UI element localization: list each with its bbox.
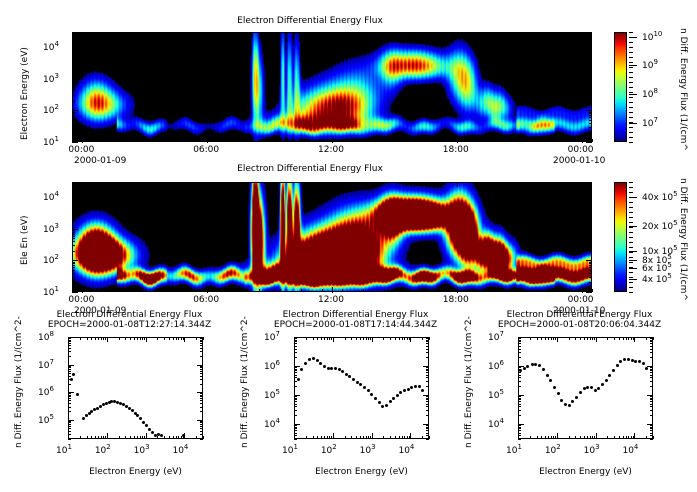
spectrum-y-minor-tick [294,367,297,368]
y-major-tick [72,47,78,48]
x-minor-tick [93,139,94,142]
spectrum-y-minor-tick [650,381,653,382]
y-minor-tick [589,80,592,81]
spectrum-x-minor-tick [366,337,367,340]
spectrum-y-minor-tick [68,411,71,412]
x-minor-tick [363,139,364,142]
spectrum-x-minor-tick [345,436,346,439]
x-minor-tick [93,289,94,292]
spectrum-y-minor-tick [518,352,521,353]
spectrum-y-minor-tick [294,369,297,370]
spectrum-y-tick-label: 107 [488,330,504,343]
spectrum-x-minor-tick [634,337,635,340]
colorbar-minor-tick [629,37,633,38]
y-minor-tick [72,207,75,208]
spectrum-y-minor-tick [426,430,429,431]
spectrum-y-minor-tick [200,395,203,396]
y-minor-tick [72,101,75,102]
spectrum-x-minor-tick [518,337,519,340]
y-minor-tick [72,86,75,87]
spectrum-y-minor-tick [650,430,653,431]
y-minor-tick [589,251,592,252]
spectrum-x-minor-tick [164,337,165,340]
y-minor-tick [72,52,75,53]
spectrum-y-minor-tick [294,372,297,373]
colorbar-tick-label: 20x 105 [642,219,678,232]
data-point [341,370,344,373]
spectrum-x-minor-tick [294,337,295,340]
colorbar-tick-label: 108 [642,87,658,100]
spectrum-x-minor-tick [628,436,629,439]
y-major-tick [586,110,592,111]
spectrum-x-minor-tick [407,436,408,439]
spectrum-x-minor-tick [329,337,330,340]
spectrum-y-minor-tick [200,365,203,366]
spectrum-y-minor-tick [294,357,297,358]
x-minor-tick [238,139,239,142]
y-minor-tick [72,88,75,89]
colorbar-minor-tick [629,247,633,248]
y-minor-tick [72,236,75,237]
y-minor-tick [589,52,592,53]
spectrum-x-minor-tick [646,436,647,439]
y-tick-label: 101 [43,135,59,148]
data-point [583,387,586,390]
spectrum-y-minor-tick [200,366,203,367]
spectrum-y-minor-tick [294,377,297,378]
data-point [597,387,600,390]
y-major-tick [586,260,592,261]
spectrum-x-minor-tick [653,337,654,340]
spectrum-y-minor-tick [518,404,521,405]
spectrum-y-minor-tick [518,430,521,431]
spectrum-y-minor-tick [518,399,521,400]
x-minor-tick [571,289,572,292]
spectrum-y-minor-tick [68,420,71,421]
spectrum-y-minor-tick [426,375,429,376]
x-minor-tick [488,139,489,142]
y-minor-tick [72,202,75,203]
y-minor-tick [589,214,592,215]
spectrum-y-minor-tick [200,407,203,408]
spectrum-y-minor-tick [426,439,429,440]
y-minor-tick [72,117,75,118]
spectrum-y-minor-tick [518,357,521,358]
y-minor-tick [72,199,75,200]
spectrum-x-tick-label: 104 [172,443,188,456]
spectrum-x-minor-tick [345,337,346,340]
y-minor-tick [589,210,592,211]
y-minor-tick [72,49,75,50]
spectrum-y-minor-tick [650,352,653,353]
y-minor-tick [589,132,592,133]
y-minor-tick [589,112,592,113]
data-point [308,358,311,361]
y-minor-tick [589,241,592,242]
y-minor-tick [589,202,592,203]
x-major-tick [207,287,208,293]
spectrum-y-minor-tick [68,400,71,401]
x-minor-tick [176,289,177,292]
spectrum-x-minor-tick [333,337,334,340]
spectrum-x-minor-tick [530,436,531,439]
colorbar-minor-tick [629,222,633,223]
spectrum-y-minor-tick [68,407,71,408]
spectrum-subtitle-3: EPOCH=2000-01-08T20:06:04.344Z [472,320,687,331]
spectrum-y-minor-tick [426,404,429,405]
y-major-tick [586,142,592,143]
colorbar-minor-tick [629,67,633,68]
spectrum-x-minor-tick [137,337,138,340]
spectrum-x-tick-label: 103 [360,443,376,456]
spectrum-x-minor-tick [203,436,204,439]
spectrum-y-minor-tick [200,345,203,346]
x-minor-tick [342,289,343,292]
spectrum-y-minor-tick [650,424,653,425]
spectrum-x-minor-tick [80,337,81,340]
spectrum-y-minor-tick [200,373,203,374]
spectrum-y-tick-label: 104 [488,417,504,430]
y-minor-tick [72,263,75,264]
spectrum-x-minor-tick [333,436,334,439]
spectrum-x-minor-tick [327,337,328,340]
y-minor-tick [72,267,75,268]
y-minor-tick [589,50,592,51]
data-point [645,367,648,370]
spectrum-x-minor-tick [404,337,405,340]
y-minor-tick [72,91,75,92]
spectrum-y-minor-tick [294,399,297,400]
spectrum-y-minor-tick [650,377,653,378]
x-major-tick [332,32,333,37]
spectrum-y-minor-tick [518,381,521,382]
spectrum-y-minor-tick [68,428,71,429]
x-minor-tick [342,139,343,142]
spectrum-x-minor-tick [68,436,69,439]
spectrum-y-minor-tick [68,431,71,432]
colorbar-minor-tick [629,187,633,188]
spectrum-y-minor-tick [518,406,521,407]
y-minor-tick [589,120,592,121]
data-point [160,434,163,437]
spectrum-y-minor-tick [650,415,653,416]
y-minor-tick [589,49,592,50]
y-minor-tick [589,236,592,237]
spectrum-plot-area-3 [518,337,653,439]
plot-area-top [72,32,592,142]
y-minor-tick [72,120,75,121]
y-tick-label: 102 [43,103,59,116]
data-point [542,368,545,371]
x-minor-tick [197,289,198,292]
data-point [546,374,549,377]
data-point [623,358,626,361]
x-minor-tick [259,289,260,292]
spectrum-y-minor-tick [200,369,203,370]
data-point [403,389,406,392]
spectrum-x-minor-tick [422,337,423,340]
spectrum-y-minor-tick [68,373,71,374]
spectrum-y-minor-tick [294,352,297,353]
y-minor-tick [72,123,75,124]
y-minor-tick [589,54,592,55]
spectrum-y-minor-tick [518,370,521,371]
y-minor-tick [72,277,75,278]
panel-title-bottom: Electron Differential Energy Flux [60,164,560,175]
spectrum-y-minor-tick [68,384,71,385]
colorbar-minor-tick [629,77,633,78]
spectrum-x-minor-tick [157,436,158,439]
spectrum-y-minor-tick [650,346,653,347]
spectrum-y-minor-tick [426,386,429,387]
spectrum-x-minor-tick [181,436,182,439]
spectrum-y-minor-tick [294,427,297,428]
spectrum-y-minor-tick [200,341,203,342]
y-tick-label: 102 [43,253,59,266]
spectrum-y-minor-tick [200,426,203,427]
y-minor-tick [589,69,592,70]
spectrum-x-minor-tick [91,436,92,439]
spectrum-y-minor-tick [68,356,71,357]
spectrum-x-minor-tick [372,436,373,439]
y-minor-tick [72,69,75,70]
y-minor-tick [72,188,75,189]
colorbar-tick-label: 109 [642,58,658,71]
x-major-tick [457,32,458,37]
data-point [526,365,529,368]
spectrum-y-minor-tick [200,396,203,397]
spectrum-y-minor-tick [68,421,71,422]
spectrum-y-minor-tick [426,395,429,396]
data-point [334,367,337,370]
spectrum-x-minor-tick [140,436,141,439]
data-point [304,362,307,365]
y-minor-tick [589,101,592,102]
y-minor-tick [589,127,592,128]
x-minor-tick [446,289,447,292]
spectrum-x-minor-tick [653,436,654,439]
spectrum-y-tick-label: 104 [264,417,280,430]
spectrum-x-minor-tick [553,436,554,439]
colorbar-minor-tick [629,217,633,218]
spectrum-x-minor-tick [130,436,131,439]
y-minor-tick [589,84,592,85]
spectrum-x-minor-tick [176,436,177,439]
data-point [642,362,645,365]
spectrum-x-minor-tick [551,436,552,439]
spectrum-y-minor-tick [200,371,203,372]
spectrum-x-minor-tick [569,436,570,439]
spectrum-x-minor-tick [631,436,632,439]
spectrum-x-minor-tick [134,337,135,340]
spectrum-x-minor-tick [404,436,405,439]
colorbar-minor-tick [629,137,633,138]
x-tick-label: 00:00 [568,145,594,155]
colorbar-minor-tick [629,212,633,213]
spectrum-x-minor-tick [537,436,538,439]
spectrum-plot-area-1 [68,337,203,439]
spectrum-y-minor-tick [426,341,429,342]
spectrum-x-minor-tick [142,436,143,439]
y-major-tick [586,292,592,293]
spectrum-y-minor-tick [68,395,71,396]
x-major-tick [82,32,83,37]
spectrum-y-minor-tick [650,439,653,440]
spectrum-plot-area-2 [294,337,429,439]
y-minor-tick [589,88,592,89]
spectrum-y-minor-tick [650,399,653,400]
spectrum-y-minor-tick [426,401,429,402]
spectrum-x-minor-tick [178,436,179,439]
spectrum-y-minor-tick [518,367,521,368]
spectrum-x-minor-tick [553,337,554,340]
spectrum-x-tick-label: 104 [622,443,638,456]
spectrum-y-minor-tick [650,367,653,368]
spectrum-y-minor-tick [518,369,521,370]
spectrum-y-minor-tick [294,424,297,425]
spectrum-y-minor-tick [294,398,297,399]
x-major-tick [457,287,458,293]
spectrum-x-minor-tick [429,436,430,439]
spectrum-y-minor-tick [650,401,653,402]
x-minor-tick [384,289,385,292]
y-minor-tick [589,267,592,268]
data-point [85,414,88,417]
spectrum-y-minor-tick [294,349,297,350]
x-tick-label: 00:00 [568,295,594,305]
x-minor-tick [301,289,302,292]
spectrum-x-minor-tick [590,436,591,439]
x-major-tick [207,182,208,187]
spectrum-x-minor-tick [91,337,92,340]
spectrum-y-minor-tick [68,426,71,427]
colorbar-minor-tick [629,252,633,253]
x-tick-label: 18:00 [443,295,469,305]
spectrum-x-minor-tick [592,436,593,439]
y-minor-tick [72,112,75,113]
colorbar-minor-tick [629,282,633,283]
data-point [418,385,421,388]
y-minor-tick [589,200,592,201]
y-minor-tick [589,277,592,278]
y-minor-tick [72,262,75,263]
data-point [601,383,604,386]
spectrum-y-minor-tick [518,346,521,347]
x-tick-label: 12:00 [318,295,344,305]
spectrum-y-minor-tick [650,406,653,407]
spectrum-x-minor-tick [363,337,364,340]
spectrum-x-minor-tick [173,337,174,340]
spectrum-y-tick-label: 108 [38,330,54,343]
spectrum-y-minor-tick [68,371,71,372]
x-major-tick [582,287,583,293]
spectrum-x-minor-tick [390,436,391,439]
spectrum-y-minor-tick [200,431,203,432]
spectrum-y-minor-tick [68,396,71,397]
y-minor-tick [72,95,75,96]
y-tick-label: 104 [43,40,59,53]
spectrum-y-minor-tick [650,369,653,370]
y-minor-tick [589,38,592,39]
y-minor-tick [589,82,592,83]
x-minor-tick [114,139,115,142]
spectrum-y-minor-tick [426,398,429,399]
spectrum-y-minor-tick [294,375,297,376]
spectrum-x-minor-tick [390,337,391,340]
spectrum-y-minor-tick [650,370,653,371]
data-point [76,393,79,396]
x-minor-tick [218,139,219,142]
spectrum-x-minor-tick [317,337,318,340]
y-major-tick [72,197,78,198]
x-minor-tick [550,289,551,292]
colorbar-label-top: n Diff. Energy Flux (1/(cm^ [678,28,688,151]
spectrum-y-minor-tick [294,346,297,347]
spectrum-x-minor-tick [395,337,396,340]
colorbar-minor-tick [629,32,633,33]
spectrum-y-minor-tick [68,351,71,352]
y-minor-tick [72,232,75,233]
x-minor-tick [571,139,572,142]
data-point [571,400,574,403]
spectrum-y-minor-tick [200,439,203,440]
spectrum-x-minor-tick [575,436,576,439]
spectrum-y-minor-tick [200,343,203,344]
spectrum-y-tick-label: 105 [38,413,54,426]
spectrum-y-minor-tick [426,415,429,416]
data-point [348,375,351,378]
spectrogram-image-top [73,33,591,141]
x-major-tick [582,137,583,143]
colorbar-label-bottom: n Diff. Energy Flux (1/(cm^ [678,178,688,301]
y-minor-tick [72,132,75,133]
spectrum-y-minor-tick [426,377,429,378]
spectrum-y-minor-tick [426,349,429,350]
y-minor-tick [589,270,592,271]
colorbar-minor-tick [629,142,633,143]
spectrum-y-minor-tick [200,376,203,377]
spectrum-y-minor-tick [200,421,203,422]
spectrum-y-minor-tick [518,375,521,376]
data-point [608,374,611,377]
colorbar-top [614,32,627,142]
spectrum-x-minor-tick [107,337,108,340]
spectrum-x-minor-tick [95,436,96,439]
spectrum-y-minor-tick [426,428,429,429]
y-minor-tick [589,245,592,246]
spectrum-x-minor-tick [407,337,408,340]
spectrum-ylabel-2: n Diff. Energy Flux (1/(cm^2- [240,316,250,448]
spectrum-x-minor-tick [317,436,318,439]
y-minor-tick [72,113,75,114]
data-point [627,358,630,361]
spectrum-x-minor-tick [626,337,627,340]
spectrum-x-minor-tick [614,436,615,439]
spectrum-y-tick-label: 106 [488,359,504,372]
data-point [356,381,359,384]
colorbar-bottom [614,182,627,292]
colorbar-minor-tick [629,262,633,263]
spectrum-y-minor-tick [294,406,297,407]
y-major-tick [586,79,592,80]
x-minor-tick [592,289,593,292]
spectrum-x-minor-tick [614,337,615,340]
spectrum-x-minor-tick [634,436,635,439]
data-point [564,403,567,406]
spectrum-x-minor-tick [101,436,102,439]
spectrum-x-minor-tick [584,337,585,340]
x-minor-tick [426,139,427,142]
